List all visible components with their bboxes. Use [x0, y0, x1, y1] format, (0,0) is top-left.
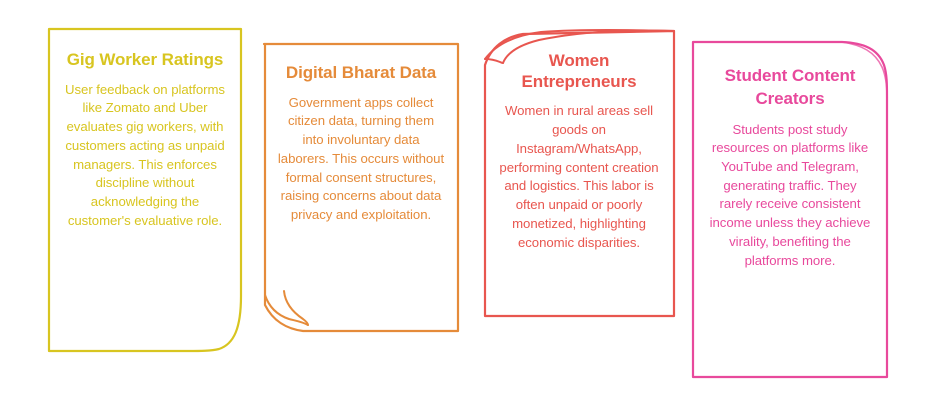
card-body: Government apps collect citizen data, tu… — [277, 94, 445, 225]
card-title: Gig Worker Ratings — [62, 50, 228, 71]
note-card-board: Gig Worker Ratings User feedback on plat… — [0, 0, 936, 401]
card-body: User feedback on platforms like Zomato a… — [62, 81, 228, 231]
note-card-digital-bharat-data[interactable]: Digital Bharat Data Government apps coll… — [263, 43, 459, 332]
card-body: Women in rural areas sell goods on Insta… — [497, 102, 661, 252]
card-title: Women Entrepreneurs — [497, 51, 661, 92]
note-card-women-entrepreneurs[interactable]: Women Entrepreneurs Women in rural areas… — [483, 29, 675, 317]
card-title: Student Content Creators — [706, 65, 874, 111]
note-card-gig-worker-ratings[interactable]: Gig Worker Ratings User feedback on plat… — [48, 28, 242, 352]
card-title: Digital Bharat Data — [277, 63, 445, 84]
note-card-student-content-creators[interactable]: Student Content Creators Students post s… — [692, 41, 888, 378]
card-body: Students post study resources on platfor… — [706, 121, 874, 271]
